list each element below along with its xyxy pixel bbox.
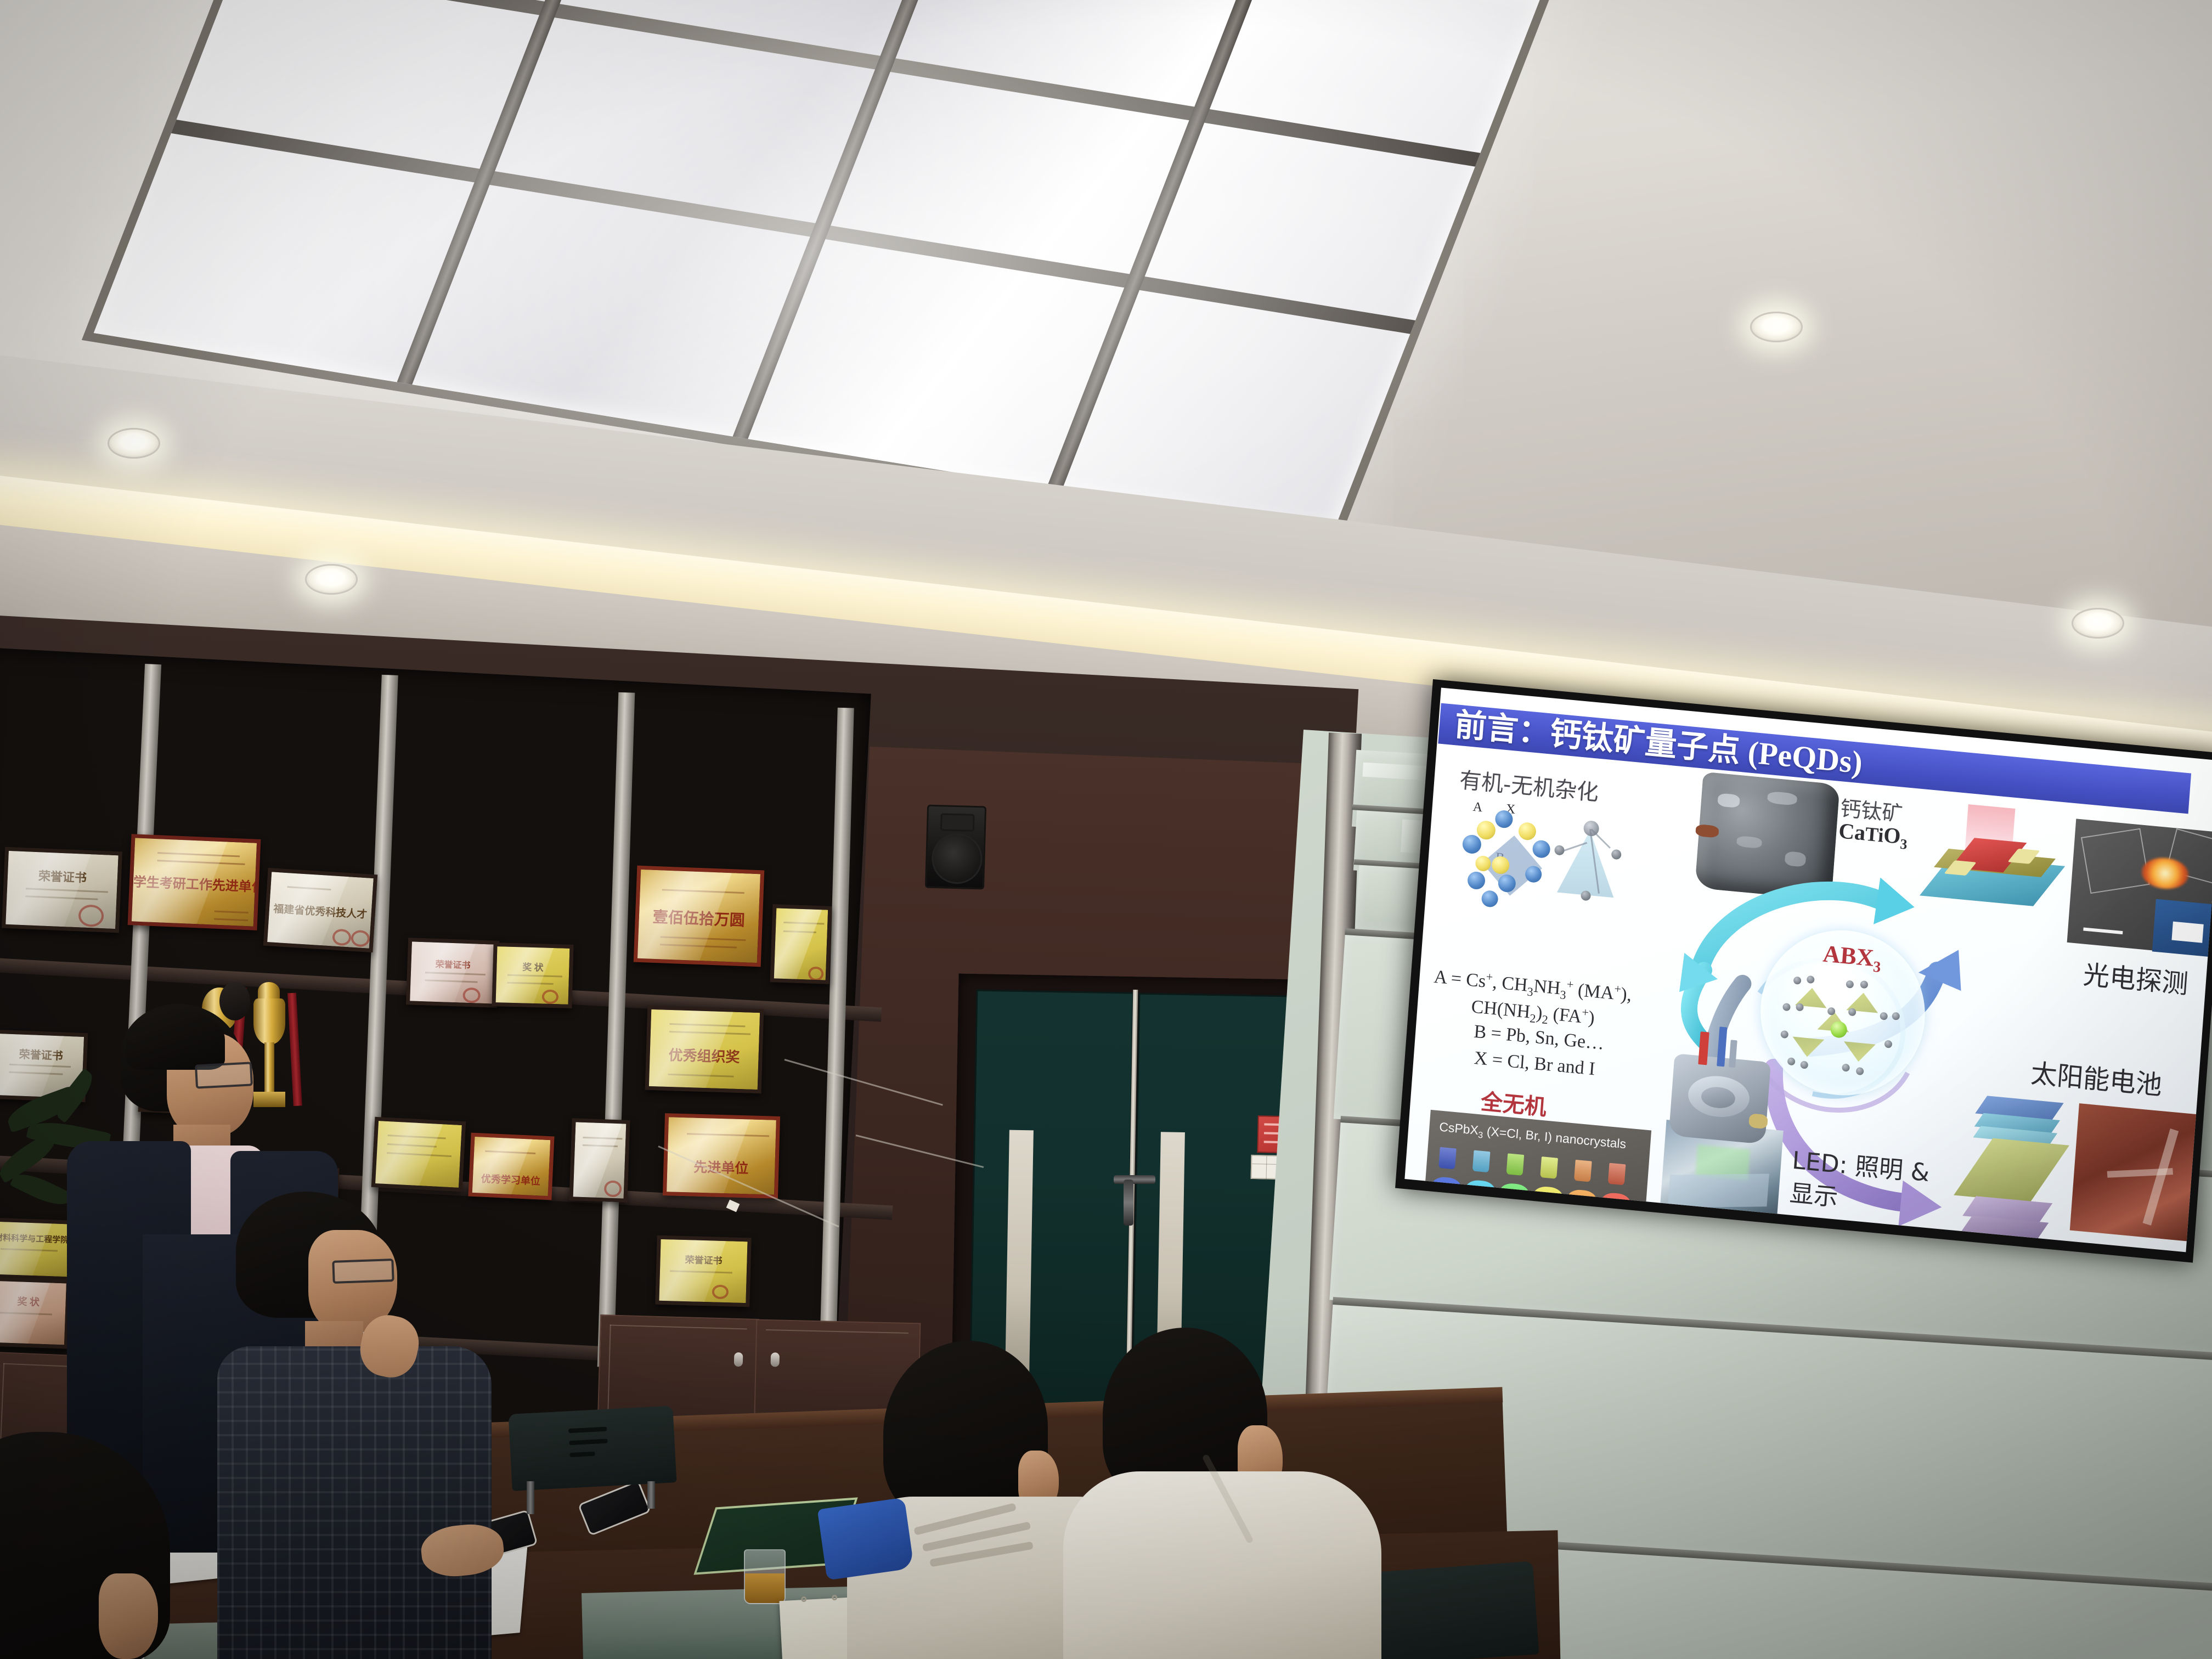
qd-panel-label: CsPbX3 (X=Cl, Br, I) nanocrystals <box>1438 1120 1627 1154</box>
blue-bag <box>817 1497 915 1580</box>
attendee-glasses <box>332 1259 394 1284</box>
attendee-plaid-shirt <box>217 1346 492 1659</box>
downlight-icon <box>1750 312 1803 342</box>
downlight-icon <box>305 564 358 595</box>
downlight-icon <box>108 428 160 459</box>
certificate-frame <box>770 904 832 984</box>
slide-label-mineral-formula: CaTiO3 <box>1837 817 1909 853</box>
office-chair-back[interactable] <box>509 1406 677 1491</box>
solar-cell-photo <box>2070 1103 2212 1243</box>
slide-label-led-line2: 显示 <box>1788 1173 1839 1213</box>
attendee-foreground-left <box>0 1432 252 1659</box>
certificate-frame: 荣誉证书 <box>655 1235 751 1307</box>
certificate-frame: 奖 状 <box>492 943 573 1008</box>
door-handle[interactable] <box>1114 1175 1155 1184</box>
certificate-frame: 优秀组织奖 <box>645 1006 764 1094</box>
slide-label-photodetector: 光电探测 <box>2082 953 2190 1001</box>
certificate-frame: 奖 状 <box>0 1277 70 1348</box>
certificate-frame: 优秀学习单位 <box>468 1133 554 1200</box>
presenter-hair-fringe <box>126 1009 225 1070</box>
water-cup <box>744 1549 786 1604</box>
chair-post <box>647 1481 655 1509</box>
presenter-glasses <box>195 1062 253 1088</box>
pa-speaker <box>925 805 986 890</box>
sem-micrograph <box>2067 819 2212 957</box>
slide-label-solar-cell: 太阳能电池 <box>2030 1052 2164 1102</box>
certificate-frame: 学生考研工作先进单位 <box>128 834 261 930</box>
projection-screen: 前言：钙钛矿量子点 (PeQDs) 有机-无机杂化 钙钛矿 CaTiO3 A X… <box>1395 679 2212 1263</box>
door-lock-plate[interactable] <box>1124 1180 1133 1226</box>
mechanical-part-illustration <box>1669 1053 1771 1144</box>
hybrid-crystal-model: A X B <box>1456 800 1630 946</box>
certificate-frame: 壹佰伍拾万圆 <box>634 866 765 967</box>
certificate-frame: 福建省优秀科技人才 <box>263 868 378 952</box>
slide-formula-x: X = Cl, Br and I <box>1474 1048 1596 1080</box>
downlight-icon <box>2072 608 2124 639</box>
chair-post <box>527 1481 534 1514</box>
certificate-frame: 荣誉证书 <box>406 938 499 1008</box>
presentation-slide: 前言：钙钛矿量子点 (PeQDs) 有机-无机杂化 钙钛矿 CaTiO3 A X… <box>1404 687 2212 1252</box>
solar-cell-stack-illustration <box>1959 1094 2074 1252</box>
abx3-lattice-model <box>1777 969 1904 1093</box>
slide-core-formula: ABX3 <box>1822 939 1883 977</box>
photodetector-device-illustration <box>1926 801 2060 922</box>
certificate-frame <box>569 1118 630 1203</box>
photo-scene: 荣誉证书 学生考研工作先进单位 福建省优秀科技人才 荣誉证书 奖 状 壹佰 <box>0 0 2212 1659</box>
attendee-ear <box>99 1573 158 1659</box>
certificate-frame: 荣誉证书 <box>2 847 122 933</box>
attendee-hoodie-garment <box>1063 1471 1381 1659</box>
attendee-hoodie-right <box>1053 1328 1393 1659</box>
